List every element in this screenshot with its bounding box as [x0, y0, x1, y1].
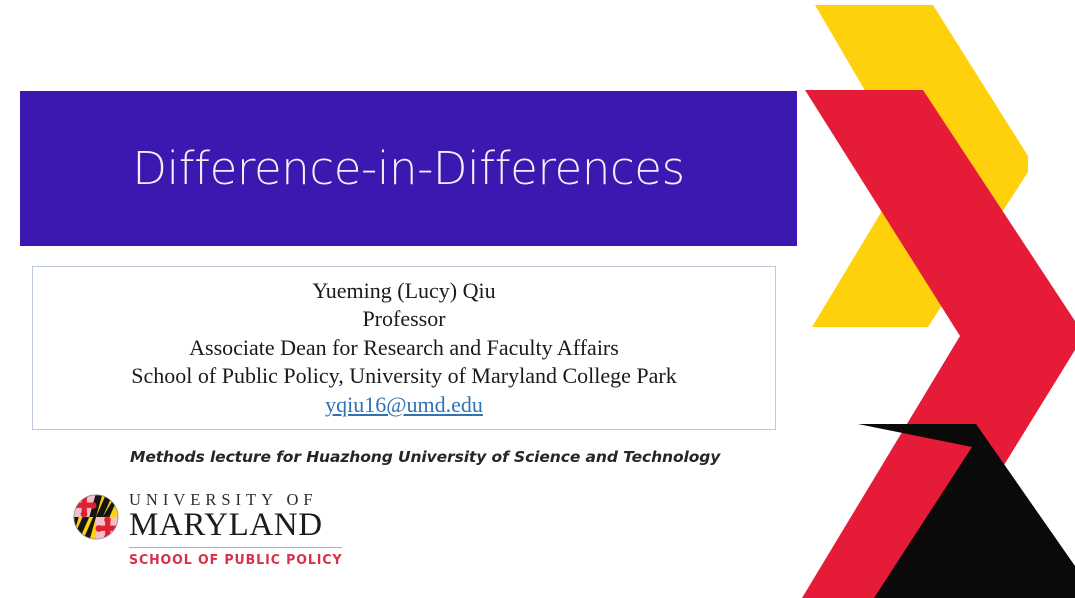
- logo-school-text: SCHOOL OF PUBLIC POLICY: [129, 553, 327, 567]
- author-info-box: Yueming (Lucy) Qiu Professor Associate D…: [32, 266, 776, 430]
- yellow-chevron: [812, 5, 1028, 327]
- umd-logo: UNIVERSITY OF MARYLAND SCHOOL OF PUBLIC …: [72, 491, 342, 563]
- author-title: Professor: [362, 305, 445, 334]
- lecture-subtitle: Methods lecture for Huazhong University …: [130, 448, 720, 466]
- logo-divider: [129, 547, 342, 548]
- author-affiliation: School of Public Policy, University of M…: [131, 362, 676, 391]
- presentation-slide: Difference-in-Differences Yueming (Lucy)…: [0, 0, 1075, 598]
- red-chevron: [802, 90, 1075, 598]
- black-chevron: [858, 424, 1075, 598]
- maryland-flag-globe-icon: [72, 493, 120, 541]
- logo-maryland-text: MARYLAND: [129, 509, 342, 543]
- author-name: Yueming (Lucy) Qiu: [312, 277, 495, 306]
- author-email-link[interactable]: yqiu16@umd.edu: [325, 391, 483, 420]
- logo-university-text: UNIVERSITY OF: [129, 491, 342, 508]
- page-title: Difference-in-Differences: [132, 145, 684, 192]
- author-role: Associate Dean for Research and Faculty …: [189, 334, 619, 363]
- umd-wordmark: UNIVERSITY OF MARYLAND SCHOOL OF PUBLIC …: [129, 491, 342, 567]
- title-banner: Difference-in-Differences: [20, 91, 797, 246]
